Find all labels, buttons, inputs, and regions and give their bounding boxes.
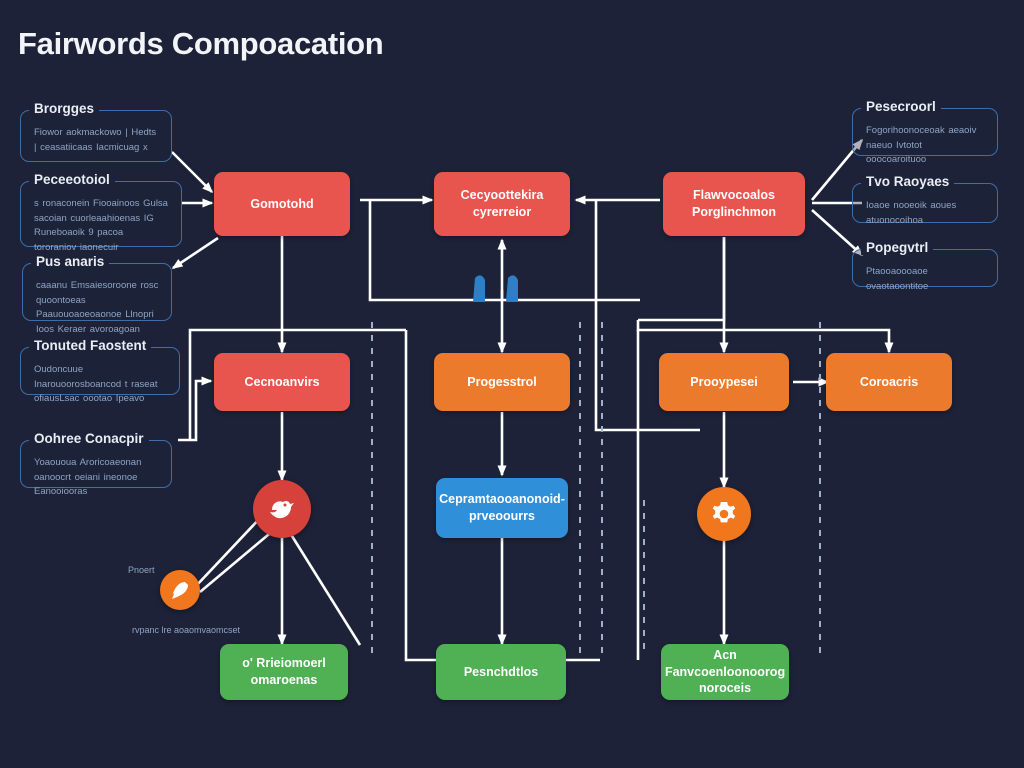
annotation-card-body: Yoaououa Aroricoaeonan oanoocrt oeiani i… [34, 456, 159, 500]
process-node-prooypesei[interactable]: Prooypesei [659, 353, 789, 411]
annotation-card[interactable]: Brorgges Fiowor aokmackowo | Hedts | cea… [20, 110, 172, 162]
node-label: Gomotohd [250, 196, 313, 213]
annotation-card-title: Tonuted Faostent [29, 338, 151, 353]
process-node-rrieiomoerl[interactable]: o' Rrieiomoerl omaroenas [220, 644, 348, 700]
node-label: Cecnoanvirs [244, 374, 319, 391]
annotation-card-title: Tvo Raoyaes [861, 174, 954, 189]
annotation-card-body: Fogorihoonoceoak aeaoiv naeuo Ivtotot oo… [866, 124, 985, 168]
process-node-cepramtaooanonoid[interactable]: Cepramtaooanonoid- prveoourrs [436, 478, 568, 538]
bird-icon [267, 495, 297, 523]
annotation-card[interactable]: Popegvtrl Ptaooaoooaoe ovaotaoontitoe [852, 249, 998, 287]
node-label: o' Rrieiomoerl omaroenas [230, 655, 338, 689]
rocket-icon-badge[interactable] [160, 570, 200, 610]
float-label-pnoert: Pnoert [128, 565, 155, 575]
process-node-progesstrol[interactable]: Progesstrol [434, 353, 570, 411]
rocket-icon [169, 579, 191, 601]
annotation-card-title: Pus anaris [31, 254, 109, 269]
annotation-card[interactable]: Oohree Conacpir Yoaououa Aroricoaeonan o… [20, 440, 172, 488]
gear-icon-badge[interactable] [697, 487, 751, 541]
node-label: Pesnchdtlos [464, 664, 538, 681]
gear-icon [709, 499, 739, 529]
process-node-flawvocoalos[interactable]: Flawvocoalos Porglinchmon [663, 172, 805, 236]
node-label: Coroacris [860, 374, 918, 391]
node-label: Cepramtaooanonoid- prveoourrs [439, 491, 565, 525]
process-node-cecnoanvirs[interactable]: Cecnoanvirs [214, 353, 350, 411]
node-label: Cecyoottekira cyrerreior [444, 187, 560, 221]
annotation-card[interactable]: Pesecroorl Fogorihoonoceoak aeaoiv naeuo… [852, 108, 998, 156]
diagram-canvas: Fairwords Compoacation [0, 0, 1024, 768]
annotation-card-title: Pesecroorl [861, 99, 941, 114]
annotation-card-title: Oohree Conacpir [29, 431, 149, 446]
process-node-fanvcoenloonoorog[interactable]: Acn Fanvcoenloonoorog noroceis [661, 644, 789, 700]
annotation-card-body: Ptaooaoooaoe ovaotaoontitoe [866, 265, 985, 294]
node-label: Acn Fanvcoenloonoorog noroceis [665, 647, 785, 698]
annotation-card-title: Popegvtrl [861, 240, 933, 255]
process-node-gomotohd[interactable]: Gomotohd [214, 172, 350, 236]
annotation-card-body: s ronaconein Fiooainoos Gulsa sacoian cu… [34, 197, 169, 256]
annotation-card-title: Brorgges [29, 101, 99, 116]
float-label-caption: rvpanc lre aoaomvaomcset [132, 625, 240, 635]
annotation-card[interactable]: Pus anaris caaanu Emsaiesoroone rosc quo… [22, 263, 172, 321]
process-node-pesnchdtlos[interactable]: Pesnchdtlos [436, 644, 566, 700]
node-label: Prooypesei [690, 374, 757, 391]
annotation-card-title: Peceeotoiol [29, 172, 115, 187]
annotation-card-body: Oudoncuue Inarouoorosboancod t raseat of… [34, 363, 167, 407]
annotation-card-body: Ioaoe nooeoik aoues atuonocoihoa [866, 199, 985, 228]
annotation-card[interactable]: Peceeotoiol s ronaconein Fiooainoos Guls… [20, 181, 182, 247]
annotation-card-body: caaanu Emsaiesoroone rosc quoontoeas Paa… [36, 279, 159, 338]
annotation-card[interactable]: Tonuted Faostent Oudoncuue Inarouoorosbo… [20, 347, 180, 395]
bird-icon-badge[interactable] [253, 480, 311, 538]
node-label: Flawvocoalos Porglinchmon [673, 187, 795, 221]
process-node-cecyoottekira[interactable]: Cecyoottekira cyrerreior [434, 172, 570, 236]
annotation-card-body: Fiowor aokmackowo | Hedts | ceasatiicaas… [34, 126, 159, 155]
process-node-coroacris[interactable]: Coroacris [826, 353, 952, 411]
annotation-card[interactable]: Tvo Raoyaes Ioaoe nooeoik aoues atuonoco… [852, 183, 998, 223]
node-label: Progesstrol [467, 374, 536, 391]
